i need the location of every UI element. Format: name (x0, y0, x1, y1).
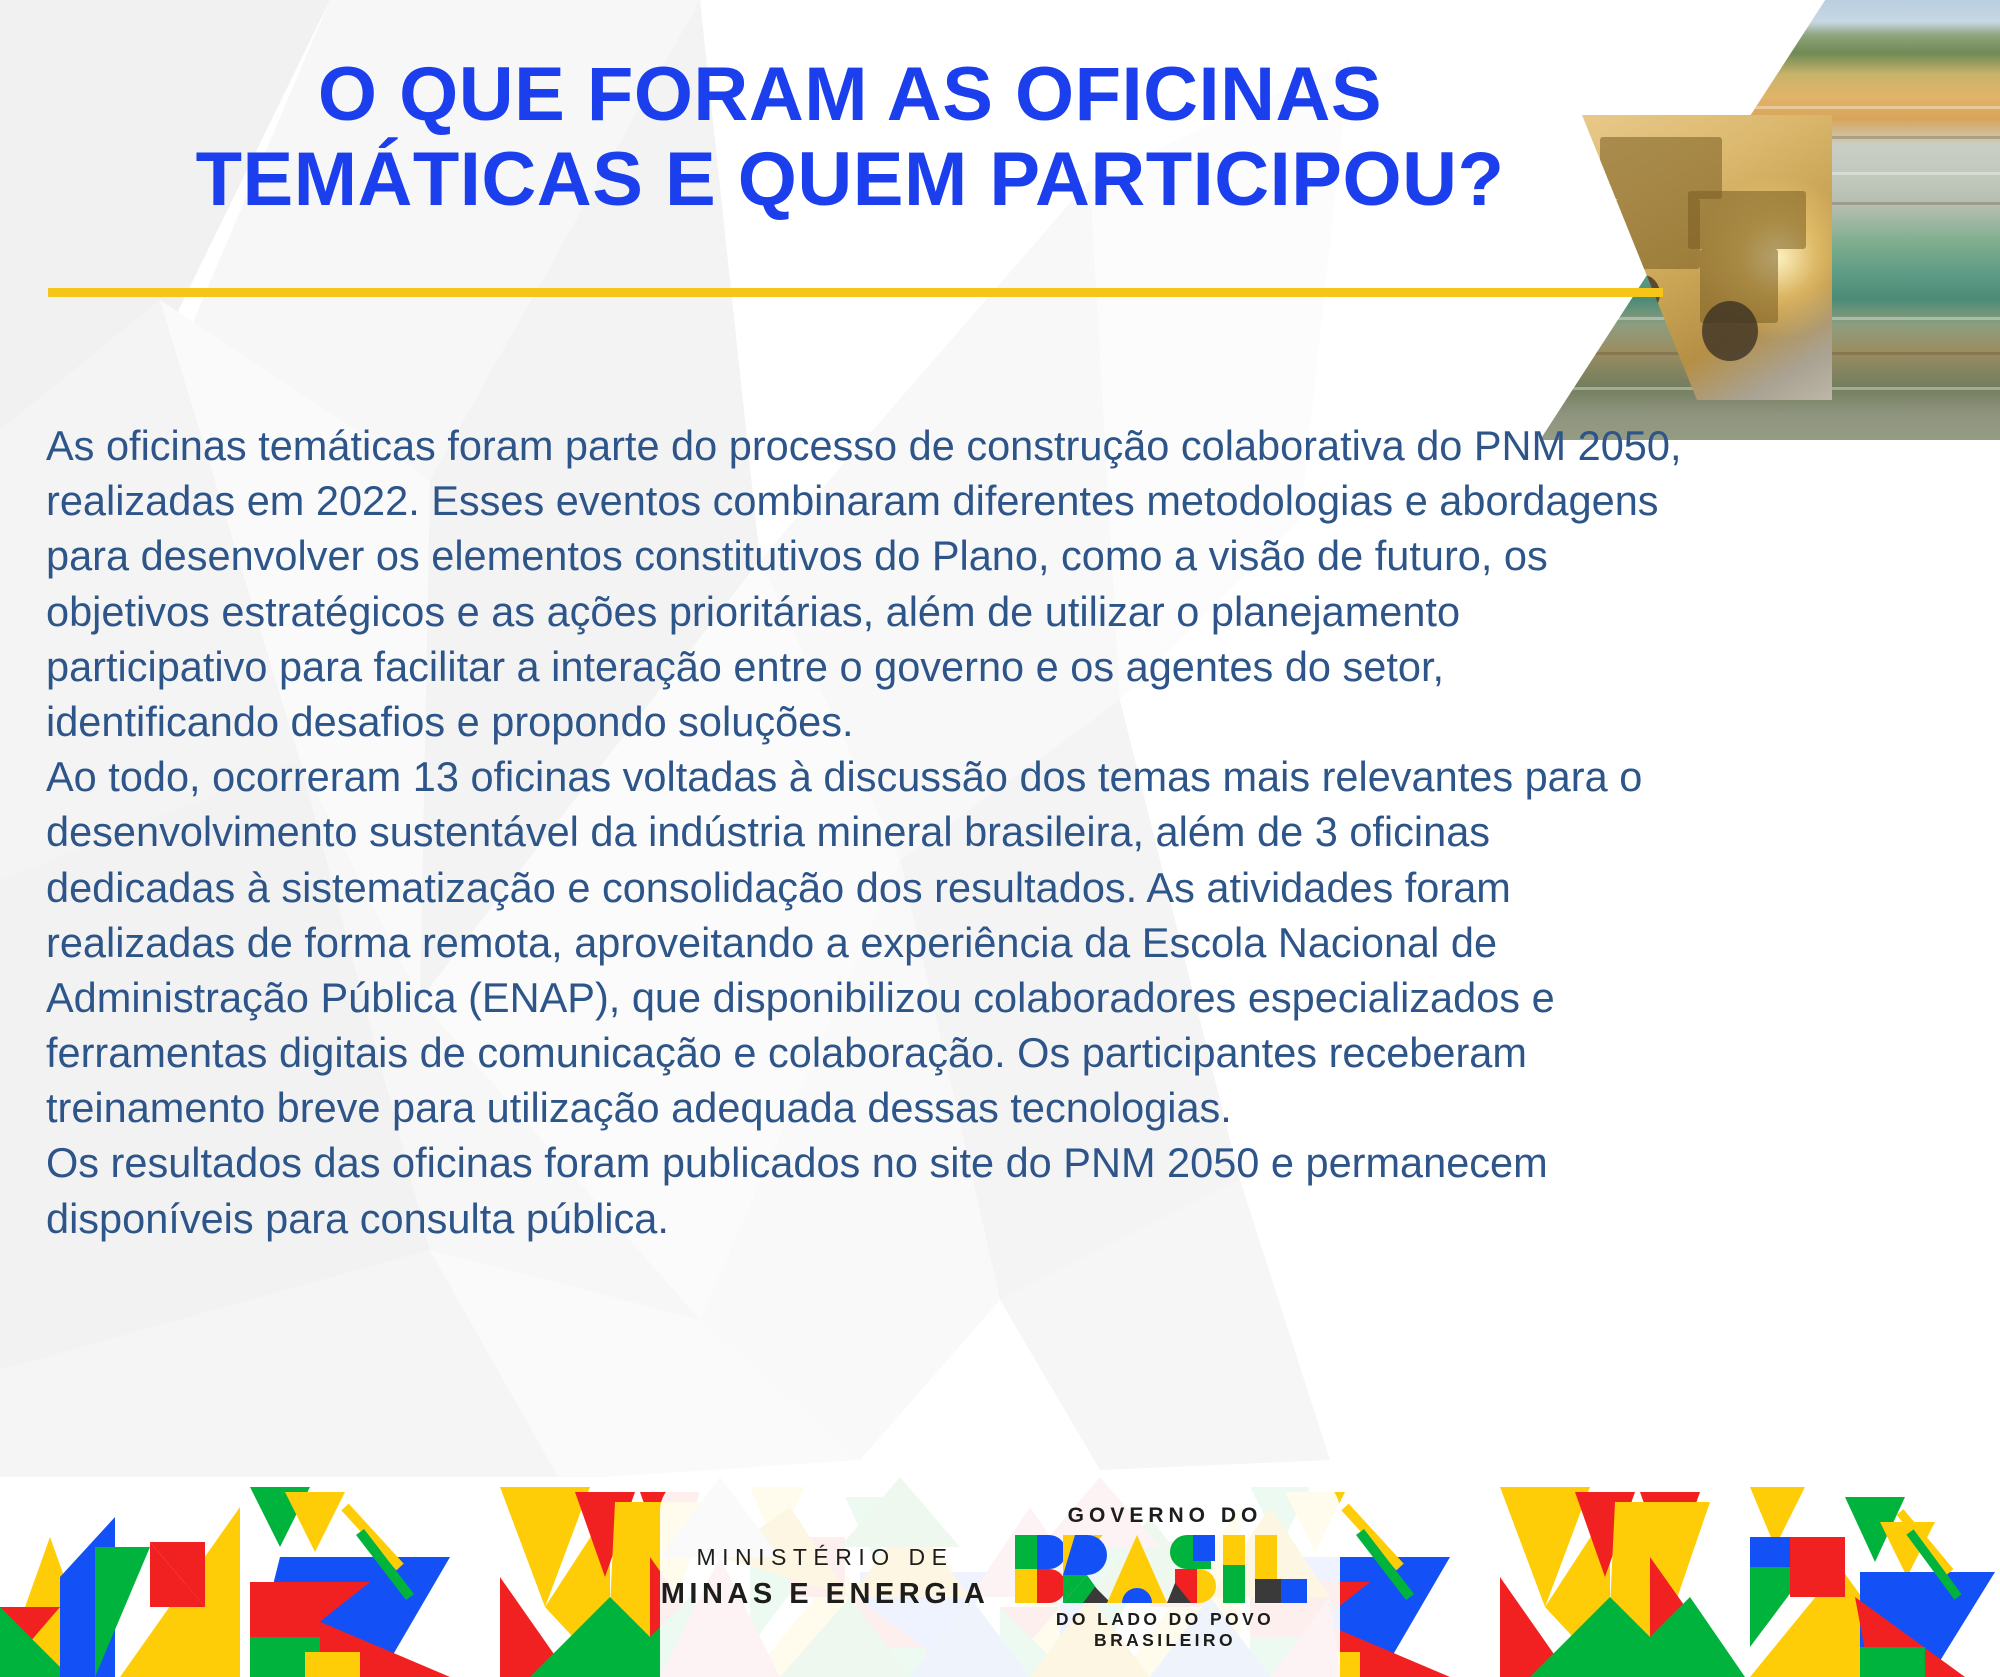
footer-pattern-tile (250, 1477, 500, 1677)
footer-band: MINISTÉRIO DE MINAS E ENERGIA GOVERNO DO (0, 1477, 2000, 1677)
title-line-1: O QUE FORAM AS OFICINAS (0, 52, 1700, 137)
footer-pattern-tile (0, 1477, 250, 1677)
ministry-line-2: MINAS E ENERGIA (660, 1578, 990, 1611)
government-bottom-label: DO LADO DO POVO BRASILEIRO (990, 1609, 1340, 1651)
page-title: O QUE FORAM AS OFICINAS TEMÁTICAS E QUEM… (0, 52, 1700, 222)
brasil-wordmark-glyphs (1015, 1535, 1315, 1603)
government-logo: GOVERNO DO (990, 1504, 1340, 1651)
paragraph-3: Os resultados das oficinas foram publica… (46, 1135, 1686, 1245)
ministry-logo: MINISTÉRIO DE MINAS E ENERGIA (660, 1544, 990, 1611)
paragraph-1: As oficinas temáticas foram parte do pro… (46, 418, 1686, 749)
title-underline-rule (48, 288, 1663, 297)
footer-pattern-tile (1500, 1477, 1750, 1677)
body-content: As oficinas temáticas foram parte do pro… (46, 418, 1686, 1246)
title-line-2: TEMÁTICAS E QUEM PARTICIPOU? (0, 137, 1700, 222)
government-top-label: GOVERNO DO (990, 1504, 1340, 1528)
footer-pattern-tile (1750, 1477, 2000, 1677)
slide-canvas: O QUE FORAM AS OFICINAS TEMÁTICAS E QUEM… (0, 0, 2000, 1677)
paragraph-2: Ao todo, ocorreram 13 oficinas voltadas … (46, 749, 1686, 1135)
ministry-line-1: MINISTÉRIO DE (660, 1544, 990, 1571)
brasil-wordmark (1015, 1535, 1315, 1603)
footer-logo-panel: MINISTÉRIO DE MINAS E ENERGIA GOVERNO DO (660, 1477, 1340, 1677)
